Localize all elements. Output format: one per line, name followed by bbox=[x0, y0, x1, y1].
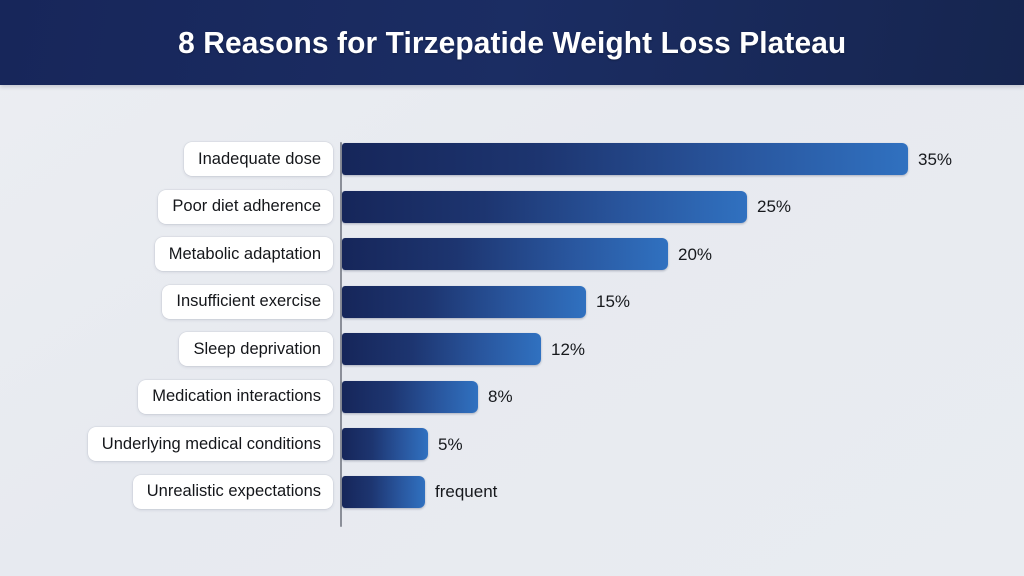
category-label-pill: Insufficient exercise bbox=[162, 285, 333, 319]
category-label-text: Sleep deprivation bbox=[193, 341, 321, 358]
bar-value-label: 8% bbox=[488, 388, 513, 405]
bar-value-label: 20% bbox=[678, 246, 712, 263]
bar-value-label: frequent bbox=[435, 483, 497, 500]
bar-value-label: 15% bbox=[596, 293, 630, 310]
category-label-wrap: Metabolic adaptation bbox=[0, 237, 333, 271]
bar bbox=[342, 476, 425, 508]
category-label-text: Inadequate dose bbox=[198, 151, 321, 168]
category-label-wrap: Unrealistic expectations bbox=[0, 475, 333, 509]
bar-track: 25% bbox=[342, 190, 791, 224]
category-label-pill: Metabolic adaptation bbox=[155, 237, 333, 271]
bar bbox=[342, 428, 428, 460]
bar-track: 5% bbox=[342, 427, 463, 461]
category-label-pill: Unrealistic expectations bbox=[133, 475, 333, 509]
category-label-text: Poor diet adherence bbox=[172, 198, 321, 215]
category-label-pill: Medication interactions bbox=[138, 380, 333, 414]
bar-value-label: 35% bbox=[918, 151, 952, 168]
bar-value-label: 5% bbox=[438, 436, 463, 453]
bar-rows-container: Inadequate dose35%Poor diet adherence25%… bbox=[0, 85, 1024, 576]
bar-row: Underlying medical conditions5% bbox=[0, 427, 1024, 461]
bar-row: Metabolic adaptation20% bbox=[0, 237, 1024, 271]
category-label-text: Unrealistic expectations bbox=[147, 483, 321, 500]
header-banner: 8 Reasons for Tirzepatide Weight Loss Pl… bbox=[0, 0, 1024, 85]
bar bbox=[342, 333, 541, 365]
bar bbox=[342, 381, 478, 413]
bar-value-label: 12% bbox=[551, 341, 585, 358]
page-title: 8 Reasons for Tirzepatide Weight Loss Pl… bbox=[178, 25, 846, 61]
category-label-pill: Sleep deprivation bbox=[179, 332, 333, 366]
bar-track: 15% bbox=[342, 285, 630, 319]
bar-track: 8% bbox=[342, 380, 513, 414]
category-label-text: Underlying medical conditions bbox=[102, 436, 321, 453]
category-label-wrap: Inadequate dose bbox=[0, 142, 333, 176]
category-label-text: Medication interactions bbox=[152, 388, 321, 405]
category-label-pill: Inadequate dose bbox=[184, 142, 333, 176]
bar-track: 35% bbox=[342, 142, 952, 176]
category-label-wrap: Underlying medical conditions bbox=[0, 427, 333, 461]
bar bbox=[342, 191, 747, 223]
category-label-text: Metabolic adaptation bbox=[169, 246, 321, 263]
category-label-pill: Underlying medical conditions bbox=[88, 427, 333, 461]
bar-value-label: 25% bbox=[757, 198, 791, 215]
bar-row: Inadequate dose35% bbox=[0, 142, 1024, 176]
bar-row: Sleep deprivation12% bbox=[0, 332, 1024, 366]
bar-track: 12% bbox=[342, 332, 585, 366]
bar bbox=[342, 143, 908, 175]
category-label-wrap: Medication interactions bbox=[0, 380, 333, 414]
bar bbox=[342, 238, 668, 270]
bar-track: frequent bbox=[342, 475, 497, 509]
bar-row: Poor diet adherence25% bbox=[0, 190, 1024, 224]
bar-row: Unrealistic expectationsfrequent bbox=[0, 475, 1024, 509]
category-label-wrap: Sleep deprivation bbox=[0, 332, 333, 366]
slide-root: 8 Reasons for Tirzepatide Weight Loss Pl… bbox=[0, 0, 1024, 576]
category-label-wrap: Insufficient exercise bbox=[0, 285, 333, 319]
bar-chart: Inadequate dose35%Poor diet adherence25%… bbox=[0, 85, 1024, 576]
bar bbox=[342, 286, 586, 318]
category-label-wrap: Poor diet adherence bbox=[0, 190, 333, 224]
bar-row: Insufficient exercise15% bbox=[0, 285, 1024, 319]
bar-row: Medication interactions8% bbox=[0, 380, 1024, 414]
category-label-text: Insufficient exercise bbox=[176, 293, 321, 310]
bar-track: 20% bbox=[342, 237, 712, 271]
category-label-pill: Poor diet adherence bbox=[158, 190, 333, 224]
